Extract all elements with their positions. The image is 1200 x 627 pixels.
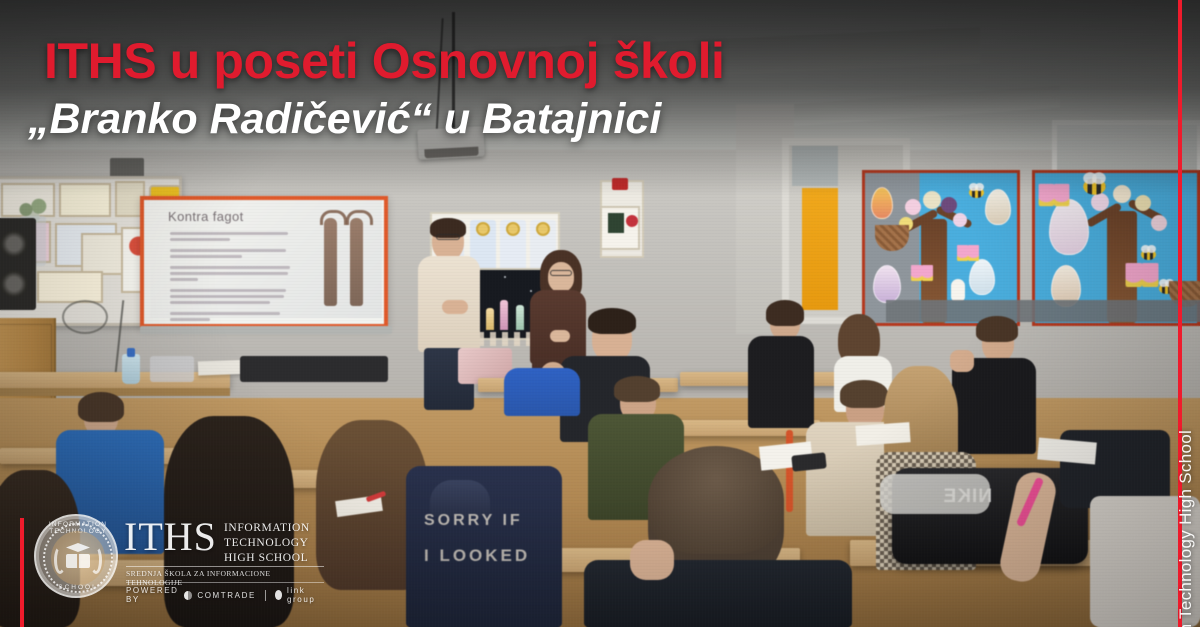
art-card <box>59 183 111 217</box>
easter-egg <box>969 259 995 295</box>
blossom <box>1113 185 1131 203</box>
page-subtitle: „Branko Radičević“ u Batajnici <box>28 97 944 142</box>
student-blue-jacket <box>504 368 580 416</box>
desk-item <box>150 356 194 382</box>
laurel-right-icon <box>90 546 102 574</box>
linkgroup-label: link group <box>287 586 324 604</box>
side-brand-text: Information Technology High School <box>1176 112 1196 627</box>
candle-figure <box>500 300 508 330</box>
coiled-cable <box>62 300 108 334</box>
easter-basket <box>875 225 909 251</box>
blossom <box>923 191 941 209</box>
open-book-icon <box>66 554 90 568</box>
blossom <box>1135 195 1151 211</box>
bottle-cap <box>127 348 135 357</box>
teacher-bag <box>240 356 388 382</box>
easter-egg <box>873 265 901 303</box>
bassoon-illustration <box>350 218 363 306</box>
butterfly-decoration <box>1039 184 1070 206</box>
presenter-female-jacket <box>530 290 586 364</box>
bassoon-illustration <box>324 218 337 306</box>
desk <box>0 372 230 388</box>
iths-name-line1: INFORMATION <box>224 521 310 536</box>
bee-decoration <box>1141 249 1156 260</box>
comtrade-icon <box>184 591 193 600</box>
door-window <box>792 146 838 186</box>
bunny-figure <box>951 279 965 301</box>
student-dark-hoodie <box>584 560 852 627</box>
hoodie-hood <box>430 480 490 516</box>
slide-bullet-line <box>170 232 288 235</box>
page-title: ITHS u poseti Osnovnoj školi <box>44 36 944 87</box>
iths-serbian-tagline: SREDNJA ŠKOLA ZA INFORMACIONE TEHNOLOGIJ… <box>126 569 326 587</box>
butterfly-decoration <box>1126 263 1159 287</box>
halo <box>476 222 490 236</box>
student-jacket <box>952 358 1036 454</box>
blossom <box>941 197 957 213</box>
student-jacket <box>748 336 814 428</box>
iths-name-line3: HIGH SCHOOL <box>224 551 310 566</box>
iths-logo-lockup[interactable]: INFORMATION TECHNOLOGY SCHOOL ITHS INFOR… <box>34 512 324 604</box>
promo-banner: Kontra fagot <box>0 0 1200 627</box>
hoodie-text-line1: SORRY IF <box>424 512 544 532</box>
wall-poster-small <box>600 206 640 250</box>
student-hair <box>976 316 1018 342</box>
bee-decoration <box>1083 178 1106 195</box>
slide-bullet-line <box>170 295 284 298</box>
orange-wall-panel <box>802 188 838 310</box>
slide-bullet-line <box>170 266 290 269</box>
side-text-wrap: Information Technology High School <box>1166 0 1200 627</box>
iths-wordmark: ITHS <box>124 518 217 556</box>
slide-bullet-line <box>170 272 288 275</box>
butterfly-decoration <box>957 245 979 261</box>
glasses <box>550 270 572 276</box>
student-hand <box>630 540 674 580</box>
logo-divider-top <box>126 566 324 567</box>
slide-bullet-line <box>170 278 198 281</box>
comtrade-label: COMTRADE <box>197 591 256 600</box>
slide-bullet-line <box>170 249 286 252</box>
slide-bullet-line <box>170 312 280 315</box>
blossom <box>953 213 967 227</box>
accent-rule-left <box>20 518 24 627</box>
student-hair <box>766 300 804 326</box>
slide-bullet-line <box>170 318 210 321</box>
partner-divider <box>265 590 266 601</box>
blossom <box>905 199 921 215</box>
projected-slide: Kontra fagot <box>150 200 382 318</box>
glasses <box>436 234 460 240</box>
easter-egg <box>871 187 893 219</box>
title-block: ITHS u poseti Osnovnoj školi „Branko Rad… <box>44 36 944 142</box>
audio-speaker-box <box>0 218 36 310</box>
slide-bullet-line <box>170 255 242 258</box>
student-hair <box>614 376 660 402</box>
candle-figure <box>516 305 524 330</box>
seal-bottom-label: SCHOOL <box>36 584 120 591</box>
presenter-female-face <box>548 262 574 292</box>
linkgroup-icon <box>275 590 282 600</box>
slide-bullet-list <box>170 232 298 324</box>
hoodie-text-line2: I LOOKED <box>424 546 564 566</box>
iths-wordmark-group: ITHS <box>124 518 217 556</box>
presenter-male-hands <box>442 300 468 314</box>
whiteboard-marker-tray <box>140 326 392 334</box>
blossom <box>1091 193 1109 211</box>
logo-divider-bottom <box>126 582 324 583</box>
white-garment <box>880 474 990 514</box>
paper-sheet <box>855 422 910 446</box>
easter-egg <box>985 189 1011 225</box>
iths-seal-icon: INFORMATION TECHNOLOGY SCHOOL <box>34 514 118 598</box>
slide-title: Kontra fagot <box>168 209 244 224</box>
student-hand <box>950 350 974 372</box>
powered-by-row: POWERED BY COMTRADE link group <box>126 586 324 604</box>
powered-by-label: POWERED BY <box>126 586 179 604</box>
butterfly-decoration <box>911 265 933 281</box>
blossom <box>1151 215 1167 231</box>
slide-bullet-line <box>170 289 286 292</box>
halo <box>536 222 550 236</box>
iths-full-name: INFORMATION TECHNOLOGY HIGH SCHOOL <box>224 521 310 567</box>
student-hair <box>78 392 124 422</box>
slide-bullet-line <box>170 238 230 241</box>
halo <box>506 222 520 236</box>
art-card <box>37 271 103 303</box>
slide-bullet-line <box>170 301 270 304</box>
water-bottle <box>122 354 140 384</box>
student-hair <box>840 380 888 408</box>
laurel-left-icon <box>54 546 66 574</box>
iths-name-line2: TECHNOLOGY <box>224 536 310 551</box>
candle-figure <box>486 308 494 330</box>
wall-display-strip <box>886 300 1200 322</box>
student-hair <box>588 308 636 334</box>
easter-egg <box>1049 199 1089 255</box>
bee-decoration <box>969 187 984 198</box>
red-wall-sign <box>612 178 628 190</box>
presenter-female-hands <box>550 330 570 342</box>
